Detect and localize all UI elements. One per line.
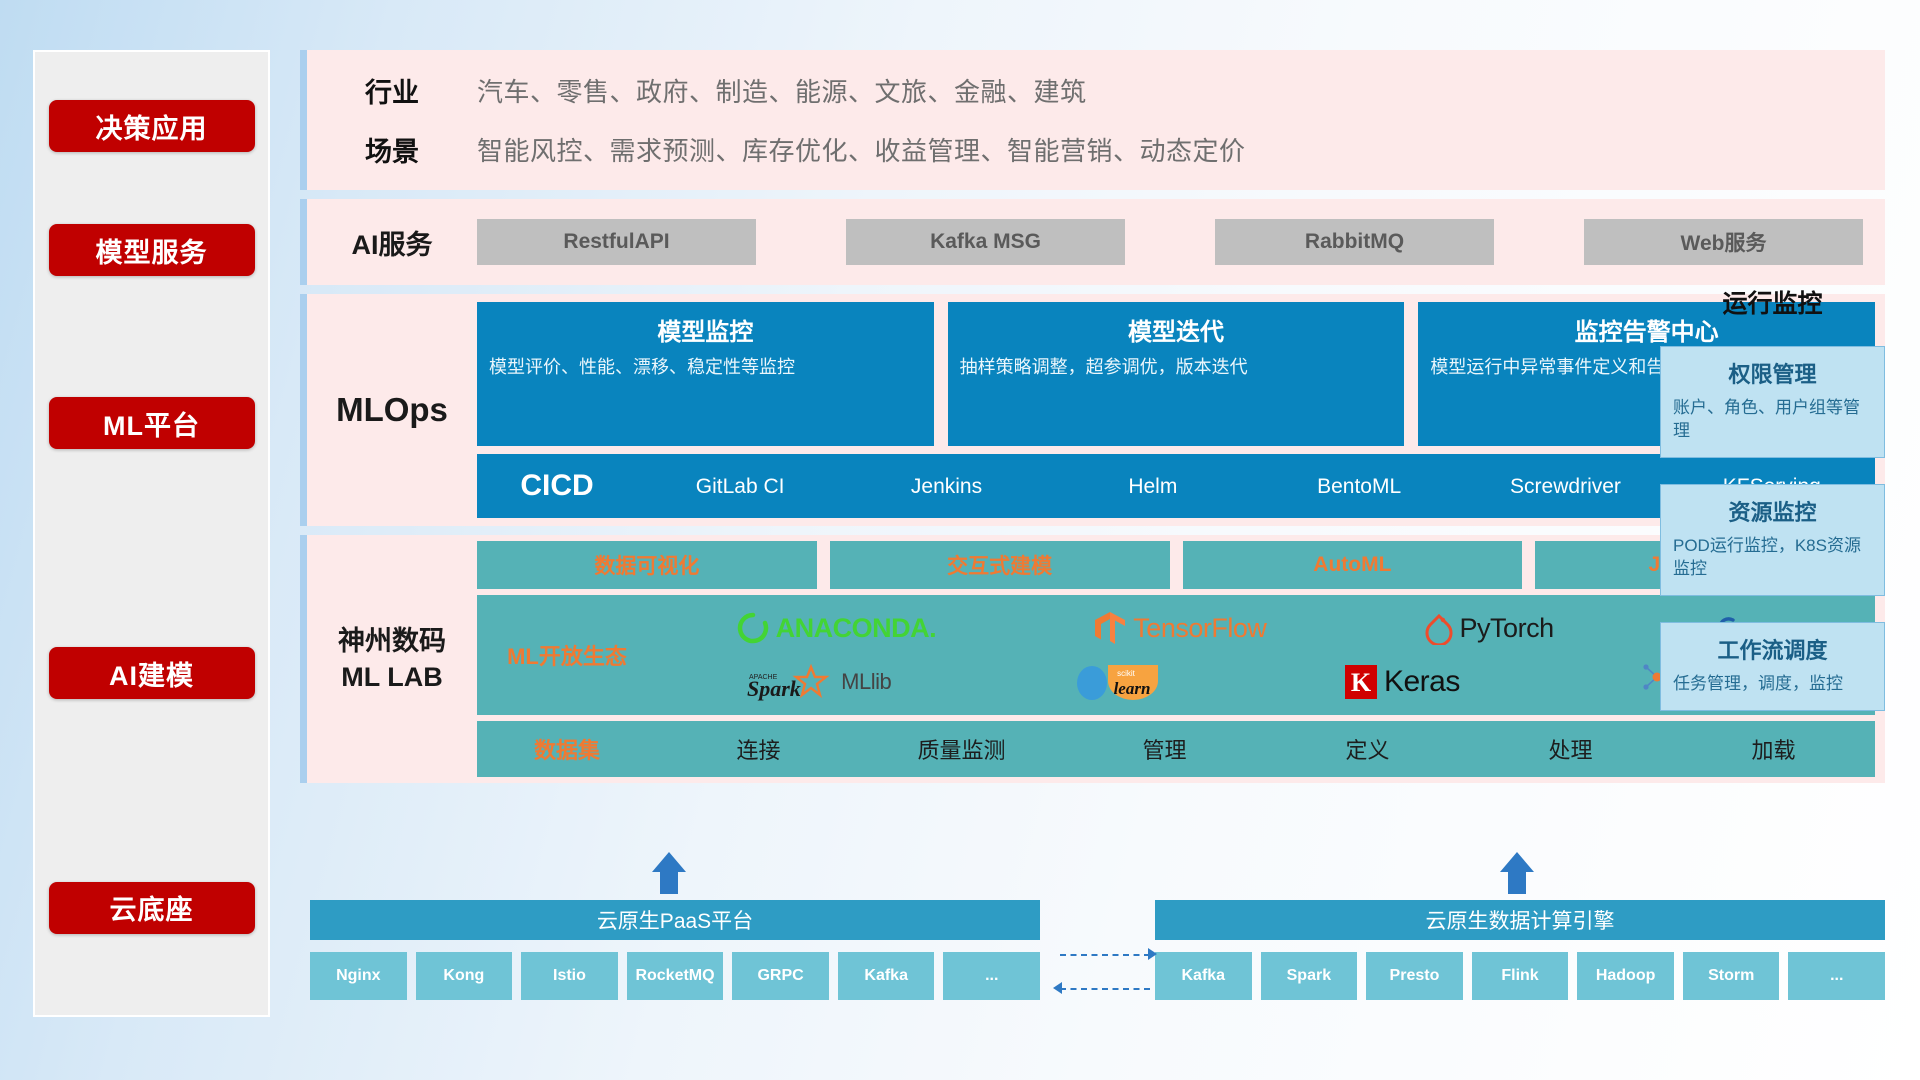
keras-text: Keras [1384, 665, 1460, 699]
ai-services-list: RestfulAPI Kafka MSG RabbitMQ Web服务 [477, 219, 1885, 265]
monitoring-card-title: 资源监控 [1673, 495, 1872, 527]
cloud-chip-presto[interactable]: Presto [1366, 952, 1463, 1000]
dataset-item-load[interactable]: 加载 [1672, 733, 1875, 765]
rail-chip-ai-modeling[interactable]: AI建模 [49, 647, 255, 699]
layer-rail: 决策应用 模型服务 ML平台 AI建模 云底座 [33, 50, 270, 1017]
mllab-label-wrap: 神州数码 ML LAB [307, 535, 477, 783]
cloud-chip-hadoop[interactable]: Hadoop [1577, 952, 1674, 1000]
arrow-up-right [1500, 852, 1534, 872]
cloud-compute-chip-list: Kafka Spark Presto Flink Hadoop Storm ..… [1155, 952, 1885, 1000]
dataset-item-manage[interactable]: 管理 [1063, 733, 1266, 765]
ai-service-chip-web[interactable]: Web服务 [1584, 219, 1863, 265]
pytorch-icon [1424, 611, 1454, 645]
mllab-label-line2: ML LAB [338, 659, 446, 695]
tensorflow-text: TensorFlow [1133, 613, 1266, 644]
cloud-paas-title[interactable]: 云原生PaaS平台 [310, 900, 1040, 940]
scikit-learn-icon: scikit learn [1072, 662, 1164, 702]
cloud-chip-rocketmq[interactable]: RocketMQ [627, 952, 724, 1000]
anaconda-icon [736, 611, 770, 645]
mlops-card-title: 模型迭代 [1128, 312, 1224, 347]
ai-services-label: AI服务 [307, 223, 477, 262]
monitoring-card-resource[interactable]: 资源监控 POD运行监控，K8S资源监控 [1660, 484, 1885, 596]
dataset-item-connect[interactable]: 连接 [657, 733, 860, 765]
tensorflow-icon [1093, 610, 1127, 646]
dashed-arrowhead-right [1148, 948, 1157, 960]
rail-slot-cloud-base: 云底座 [35, 800, 268, 1015]
cloud-chip-flink[interactable]: Flink [1472, 952, 1569, 1000]
monitoring-card-desc: POD运行监控，K8S资源监控 [1673, 535, 1872, 581]
dashed-connector-left [1060, 988, 1150, 990]
monitoring-card-title: 权限管理 [1673, 357, 1872, 389]
dataset-label: 数据集 [477, 733, 657, 765]
industry-label: 行业 [307, 71, 477, 110]
rail-slot-ai-modeling: AI建模 [35, 546, 268, 800]
scenario-value: 智能风控、需求预测、库存优化、收益管理、智能营销、动态定价 [477, 131, 1246, 168]
architecture-main-column: 行业 汽车、零售、政府、制造、能源、文旅、金融、建筑 场景 智能风控、需求预测、… [300, 50, 1885, 792]
anaconda-text: ANACONDA. [776, 613, 937, 644]
rail-slot-ml-platform: ML平台 [35, 300, 268, 546]
ai-service-chip-rabbitmq[interactable]: RabbitMQ [1215, 219, 1494, 265]
svg-text:Spark: Spark [747, 676, 801, 701]
rail-chip-cloud-base[interactable]: 云底座 [49, 882, 255, 934]
cloud-chip-more-right[interactable]: ... [1788, 952, 1885, 1000]
ml-ecosystem-label: ML开放生态 [477, 639, 657, 671]
rail-chip-model-service[interactable]: 模型服务 [49, 224, 255, 276]
cicd-item-jenkins[interactable]: Jenkins [843, 476, 1049, 497]
dataset-item-quality[interactable]: 质量监测 [860, 733, 1063, 765]
rail-chip-decision[interactable]: 决策应用 [49, 100, 255, 152]
cloud-chip-nginx[interactable]: Nginx [310, 952, 407, 1000]
cloud-chip-kong[interactable]: Kong [416, 952, 513, 1000]
mlops-label: MLOps [336, 391, 448, 429]
cloud-chip-storm[interactable]: Storm [1683, 952, 1780, 1000]
monitoring-card-title: 工作流调度 [1673, 633, 1872, 665]
cicd-item-gitlab[interactable]: GitLab CI [637, 476, 843, 497]
mllib-text: MLlib [841, 669, 891, 695]
mllab-tab-automl[interactable]: AutoML [1183, 541, 1523, 589]
keras-logo: K Keras [1344, 664, 1460, 700]
svg-text:scikit: scikit [1117, 669, 1136, 678]
svg-text:K: K [1351, 668, 1372, 697]
spark-mllib-logo: APACHE Spark MLlib [747, 663, 891, 701]
arrow-stem-right [1508, 872, 1526, 894]
mlops-label-wrap: MLOps [307, 294, 477, 526]
mlops-card-desc: 抽样策略调整，超参调优，版本迭代 [960, 355, 1393, 379]
cloud-chip-istio[interactable]: Istio [521, 952, 618, 1000]
mlops-card-title: 模型监控 [657, 312, 753, 347]
pytorch-logo: PyTorch [1424, 611, 1554, 645]
mlops-card-model-iteration[interactable]: 模型迭代 抽样策略调整，超参调优，版本迭代 [948, 302, 1405, 446]
scenario-label: 场景 [307, 130, 477, 169]
dataset-item-define[interactable]: 定义 [1266, 733, 1469, 765]
industry-value: 汽车、零售、政府、制造、能源、文旅、金融、建筑 [477, 72, 1087, 109]
monitoring-card-desc: 账户、角色、用户组等管理 [1673, 397, 1872, 443]
mllab-label: 神州数码 ML LAB [338, 623, 446, 696]
monitoring-column: 运行监控 权限管理 账户、角色、用户组等管理 资源监控 POD运行监控，K8S资… [1660, 266, 1885, 737]
cicd-title: CICD [477, 469, 637, 503]
cloud-paas-group: 云原生PaaS平台 Nginx Kong Istio RocketMQ GRPC… [310, 900, 1040, 1000]
mlops-card-desc: 模型评价、性能、漂移、稳定性等监控 [489, 355, 922, 379]
spark-icon: APACHE Spark [747, 663, 835, 701]
ai-service-chip-kafka[interactable]: Kafka MSG [846, 219, 1125, 265]
cicd-item-bentoml[interactable]: BentoML [1256, 476, 1462, 497]
cicd-item-screwdriver[interactable]: Screwdriver [1462, 476, 1668, 497]
mllab-label-line1: 神州数码 [338, 623, 446, 659]
cloud-compute-group: 云原生数据计算引擎 Kafka Spark Presto Flink Hadoo… [1155, 900, 1885, 1000]
arrow-up-left [652, 852, 686, 872]
scenario-row: 场景 智能风控、需求预测、库存优化、收益管理、智能营销、动态定价 [307, 130, 1869, 169]
mllab-tab-data-visualization[interactable]: 数据可视化 [477, 541, 817, 589]
industry-row: 行业 汽车、零售、政府、制造、能源、文旅、金融、建筑 [307, 71, 1869, 110]
anaconda-logo: ANACONDA. [736, 611, 937, 645]
ai-service-chip-restful[interactable]: RestfulAPI [477, 219, 756, 265]
monitoring-card-permission[interactable]: 权限管理 账户、角色、用户组等管理 [1660, 346, 1885, 458]
band-ml-lab: 神州数码 ML LAB 数据可视化 交互式建模 AutoML JupyterLa… [300, 535, 1885, 783]
dataset-item-process[interactable]: 处理 [1469, 733, 1672, 765]
rail-slot-model-service: 模型服务 [35, 200, 268, 300]
dashed-arrowhead-left [1053, 982, 1062, 994]
scikit-learn-logo: scikit learn [1072, 662, 1164, 702]
pytorch-text: PyTorch [1460, 613, 1554, 644]
cloud-paas-chip-list: Nginx Kong Istio RocketMQ GRPC Kafka ... [310, 952, 1040, 1000]
svg-text:learn: learn [1113, 679, 1150, 698]
cloud-base-section: 云原生PaaS平台 Nginx Kong Istio RocketMQ GRPC… [300, 872, 1885, 1022]
cloud-chip-kafka[interactable]: Kafka [838, 952, 935, 1000]
rail-slot-decision: 决策应用 [35, 52, 268, 200]
monitoring-card-workflow[interactable]: 工作流调度 任务管理，调度，监控 [1660, 622, 1885, 711]
cloud-chip-more-left[interactable]: ... [943, 952, 1040, 1000]
band-decision-apps: 行业 汽车、零售、政府、制造、能源、文旅、金融、建筑 场景 智能风控、需求预测、… [300, 50, 1885, 190]
band-ai-services: AI服务 RestfulAPI Kafka MSG RabbitMQ Web服务 [300, 199, 1885, 285]
cloud-chip-spark[interactable]: Spark [1261, 952, 1358, 1000]
band-mlops: MLOps 模型监控 模型评价、性能、漂移、稳定性等监控 模型迭代 抽样策略调整… [300, 294, 1885, 526]
cicd-item-helm[interactable]: Helm [1050, 476, 1256, 497]
tensorflow-logo: TensorFlow [1093, 610, 1266, 646]
mllab-tab-interactive-modeling[interactable]: 交互式建模 [830, 541, 1170, 589]
mlops-card-model-monitoring[interactable]: 模型监控 模型评价、性能、漂移、稳定性等监控 [477, 302, 934, 446]
monitoring-card-desc: 任务管理，调度，监控 [1673, 673, 1872, 696]
cloud-compute-title[interactable]: 云原生数据计算引擎 [1155, 900, 1885, 940]
dashed-connector-right [1060, 954, 1150, 956]
monitoring-title: 运行监控 [1660, 284, 1885, 320]
cloud-chip-kafka-r[interactable]: Kafka [1155, 952, 1252, 1000]
keras-icon: K [1344, 664, 1378, 700]
rail-chip-ml-platform[interactable]: ML平台 [49, 397, 255, 449]
cloud-chip-grpc[interactable]: GRPC [732, 952, 829, 1000]
arrow-stem-left [660, 872, 678, 894]
